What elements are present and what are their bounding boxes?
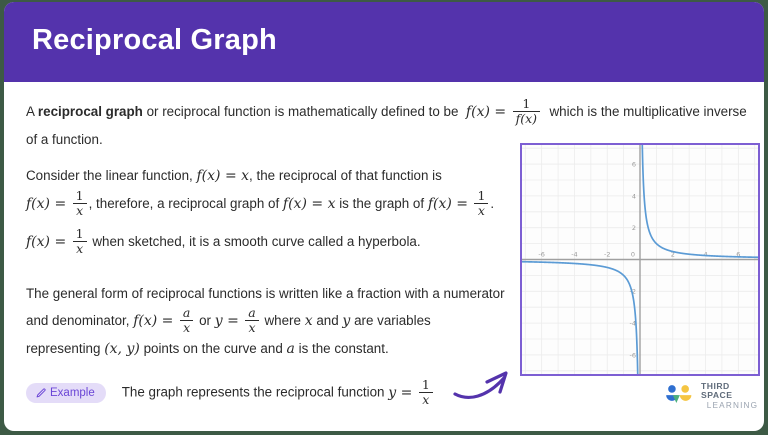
p4-formula-1: f(x) = ax xyxy=(133,313,195,329)
example-row: Example The graph represents the recipro… xyxy=(26,380,435,406)
p2-text-c: , therefore, a reciprocal graph of xyxy=(89,196,280,211)
paragraph-linear-function: Consider the linear function, f(x) = x, … xyxy=(26,162,516,218)
logo-line-2: LEARNING xyxy=(701,401,764,410)
p4-text-b: or xyxy=(199,313,211,328)
p4-text-g: is the constant. xyxy=(299,341,389,356)
curved-arrow xyxy=(452,364,526,410)
svg-text:-2: -2 xyxy=(604,251,610,259)
p2-formula-4: f(x) = 1x xyxy=(428,196,491,212)
brand-logo: THIRD SPACE LEARNING xyxy=(664,381,764,411)
p2-text-e: . xyxy=(490,196,494,211)
paragraph-hyperbola: f(x) = 1x when sketched, it is a smooth … xyxy=(26,228,516,256)
p4-text-d: and xyxy=(316,313,338,328)
p3-formula: f(x) = 1x xyxy=(26,234,89,250)
p3-text: when sketched, it is a smooth curve call… xyxy=(92,234,420,249)
svg-text:4: 4 xyxy=(703,251,707,259)
svg-text:0: 0 xyxy=(631,251,635,259)
p4-var-x: x xyxy=(305,313,313,329)
graph-svg: -6-4-22460-6-4-2246 xyxy=(522,145,758,374)
p4-text-c: where xyxy=(264,313,300,328)
paragraph-general-form: The general form of reciprocal functions… xyxy=(26,280,506,363)
svg-text:2: 2 xyxy=(632,224,636,232)
p4-text-f: points on the curve and xyxy=(144,341,283,356)
page-header: Reciprocal Graph xyxy=(4,2,764,82)
example-text-label: The graph represents the reciprocal func… xyxy=(122,385,385,400)
pencil-icon xyxy=(35,388,46,399)
page-title: Reciprocal Graph xyxy=(32,24,277,57)
p4-point-pair: (x, y) xyxy=(104,341,140,357)
svg-text:-4: -4 xyxy=(571,251,577,259)
p1-text-a: A xyxy=(26,104,38,119)
p2-formula-3: f(x) = x xyxy=(283,196,336,212)
lesson-card: Reciprocal Graph A reciprocal graph or r… xyxy=(4,2,764,431)
p4-var-a: a xyxy=(287,341,295,357)
svg-text:6: 6 xyxy=(632,160,636,168)
p1-bold-term: reciprocal graph xyxy=(38,104,143,119)
example-formula: y = 1x xyxy=(388,385,435,401)
third-space-learning-mark-icon xyxy=(664,384,694,408)
svg-text:4: 4 xyxy=(632,192,636,200)
logo-text: THIRD SPACE LEARNING xyxy=(701,382,764,410)
p2-formula-2: f(x) = 1x xyxy=(26,196,89,212)
p1-formula: f(x) = 1f(x) xyxy=(466,104,542,120)
p4-formula-2: y = ax xyxy=(215,313,261,329)
p2-text-d: is the graph of xyxy=(339,196,424,211)
svg-text:-6: -6 xyxy=(630,351,636,359)
svg-text:-6: -6 xyxy=(538,251,544,259)
p4-var-y: y xyxy=(342,313,350,329)
example-badge[interactable]: Example xyxy=(26,383,106,403)
logo-line-1: THIRD SPACE xyxy=(701,382,764,401)
p2-text-b: , the reciprocal of that function is xyxy=(249,168,442,183)
p2-formula-1: f(x) = x xyxy=(196,168,249,184)
example-badge-label: Example xyxy=(50,387,95,399)
reciprocal-graph-plot: -6-4-22460-6-4-2246 xyxy=(520,143,760,376)
example-description: The graph represents the reciprocal func… xyxy=(122,379,435,406)
p2-text-a: Consider the linear function, xyxy=(26,168,193,183)
p1-text-b: or reciprocal function is mathematically… xyxy=(143,104,459,119)
